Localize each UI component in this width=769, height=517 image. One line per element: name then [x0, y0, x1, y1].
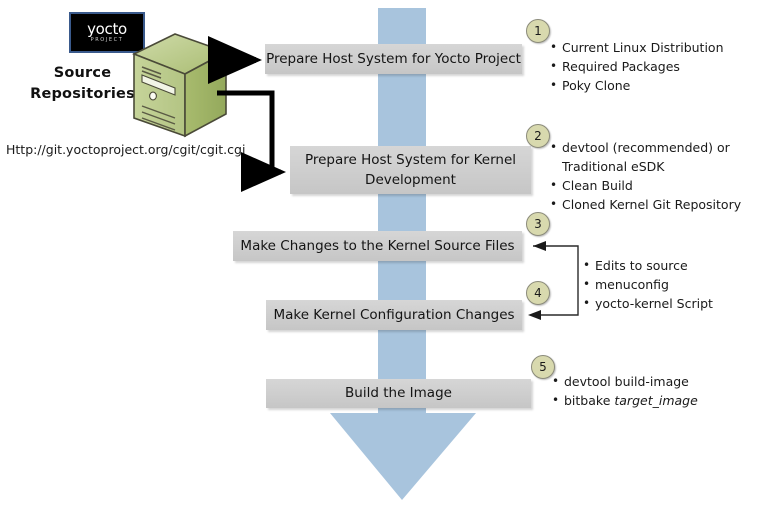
- step2-bullet-list: devtool (recommended) or Traditional eSD…: [550, 138, 741, 214]
- step1-bullet-list: Current Linux Distribution Required Pack…: [550, 38, 724, 95]
- arrowhead-step3: [533, 241, 546, 251]
- yocto-logo-subtext: PROJECT: [91, 38, 124, 43]
- list-item: devtool build-image: [552, 372, 698, 391]
- source-label-line2: Repositories: [20, 84, 145, 105]
- list-item: devtool (recommended) or Traditional eSD…: [550, 138, 741, 176]
- list-item: Required Packages: [550, 57, 724, 76]
- step-box-4[interactable]: Make Kernel Configuration Changes: [266, 300, 522, 330]
- list-item-text: bitbake: [564, 393, 614, 408]
- list-item-emphasis: target_image: [614, 393, 697, 408]
- list-item: Edits to source: [583, 256, 713, 275]
- diagram-canvas: yocto PROJECT Source Repositories Http:/…: [0, 0, 769, 517]
- list-item: Clean Build: [550, 176, 741, 195]
- list-item: Current Linux Distribution: [550, 38, 724, 57]
- step-box-5[interactable]: Build the Image: [266, 379, 531, 408]
- repository-url-text: Http://git.yoctoproject.org/cgit/cgit.cg…: [6, 142, 245, 157]
- step-box-1[interactable]: Prepare Host System for Yocto Project: [265, 44, 522, 74]
- step-box-2[interactable]: Prepare Host System for Kernel Developme…: [290, 146, 531, 194]
- step-number-4: 4: [526, 281, 550, 305]
- source-label-line1: Source: [20, 63, 145, 84]
- step5-bullet-list: devtool build-image bitbake target_image: [552, 372, 698, 410]
- step-number-2: 2: [526, 124, 550, 148]
- list-item: bitbake target_image: [552, 391, 698, 410]
- step3-step4-bullet-list: Edits to source menuconfig yocto-kernel …: [583, 256, 713, 313]
- server-tower-icon: [131, 32, 229, 138]
- arrowhead-step4: [528, 310, 541, 320]
- list-item: yocto-kernel Script: [583, 294, 713, 313]
- yocto-logo-wordmark: yocto: [87, 22, 127, 37]
- step-box-3[interactable]: Make Changes to the Kernel Source Files: [233, 231, 522, 261]
- step-number-3: 3: [526, 212, 550, 236]
- source-repositories-label: Source Repositories: [20, 63, 145, 104]
- list-item-text: devtool build-image: [564, 374, 689, 389]
- list-item: Cloned Kernel Git Repository: [550, 195, 741, 214]
- list-item: menuconfig: [583, 275, 713, 294]
- list-item: Poky Clone: [550, 76, 724, 95]
- step-number-1: 1: [526, 19, 550, 43]
